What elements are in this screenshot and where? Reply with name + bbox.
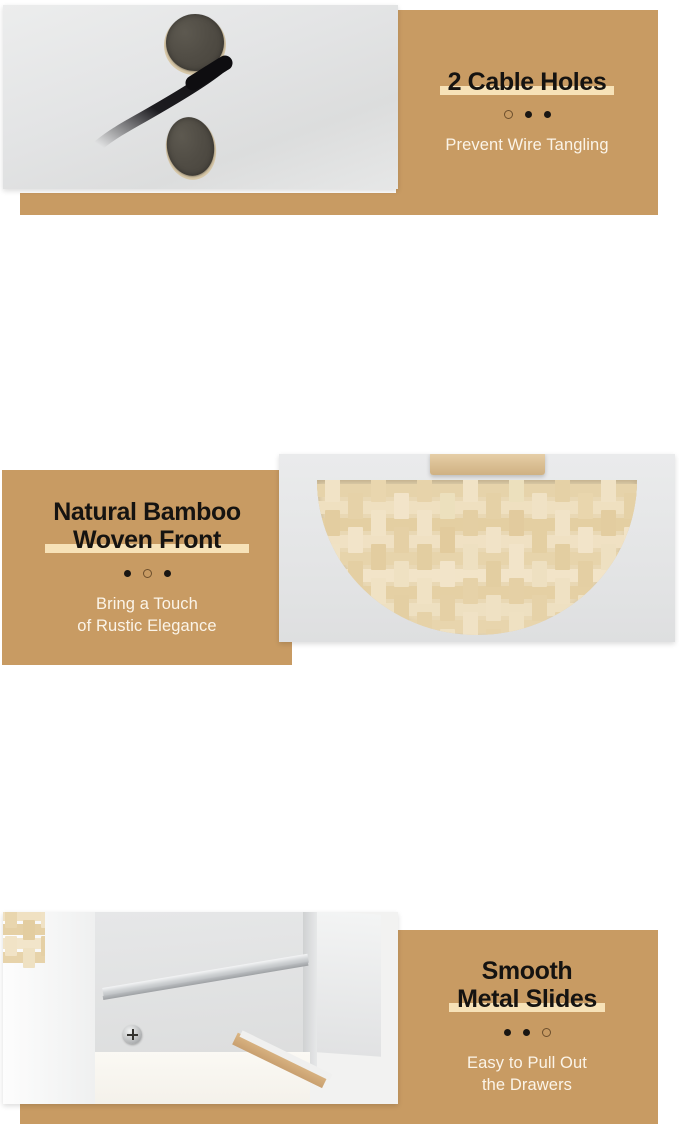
panel3-headline-line2: Metal Slides <box>457 985 597 1013</box>
drawer-box-edge <box>303 912 317 1072</box>
step-dot-1 <box>504 1029 511 1036</box>
panel3-text-block: Smooth Metal Slides Easy to Pull Out the… <box>396 930 658 1124</box>
step-dot-2 <box>525 111 532 118</box>
mounting-screw <box>123 1025 142 1044</box>
feature-panel-metal-slides: Smooth Metal Slides Easy to Pull Out the… <box>0 457 679 672</box>
panel2-headline: Natural Bamboo Woven Front <box>45 498 248 554</box>
panel1-headline-text: 2 Cable Holes <box>448 68 607 96</box>
panel2-headline-line1: Natural Bamboo <box>53 498 240 526</box>
panel3-subtitle-line1: Easy to Pull Out <box>467 1053 587 1075</box>
step-dot-1 <box>504 110 513 119</box>
step-dot-3 <box>544 111 551 118</box>
feature-panel-cable-holes: 2 Cable Holes Prevent Wire Tangling <box>0 0 679 215</box>
panel3-subtitle-line2: the Drawers <box>467 1075 587 1097</box>
panel3-subtitle: Easy to Pull Out the Drawers <box>467 1053 587 1097</box>
panel3-headline-line1: Smooth <box>457 957 597 985</box>
infographic-stage: 2 Cable Holes Prevent Wire Tangling <box>0 0 679 672</box>
panel2-headline-line2: Woven Front <box>53 526 240 554</box>
step-dot-3 <box>542 1028 551 1037</box>
panel1-text-block: 2 Cable Holes Prevent Wire Tangling <box>396 10 658 215</box>
bamboo-weave-corner <box>3 912 45 968</box>
feature-panel-bamboo-front: Natural Bamboo Woven Front Bring a Touch… <box>0 226 679 446</box>
panel3-step-dots <box>504 1028 551 1037</box>
bamboo-corner-detail <box>3 912 45 968</box>
power-cable <box>3 5 398 189</box>
step-dot-2 <box>523 1029 530 1036</box>
panel1-subtitle: Prevent Wire Tangling <box>445 135 608 157</box>
panel1-headline: 2 Cable Holes <box>440 68 615 96</box>
panel1-step-dots <box>504 110 551 119</box>
panel3-headline: Smooth Metal Slides <box>449 957 605 1013</box>
drawer-metal-slide-rail-photo <box>3 912 398 1104</box>
desk-top-with-cable-grommets-photo <box>3 5 398 189</box>
